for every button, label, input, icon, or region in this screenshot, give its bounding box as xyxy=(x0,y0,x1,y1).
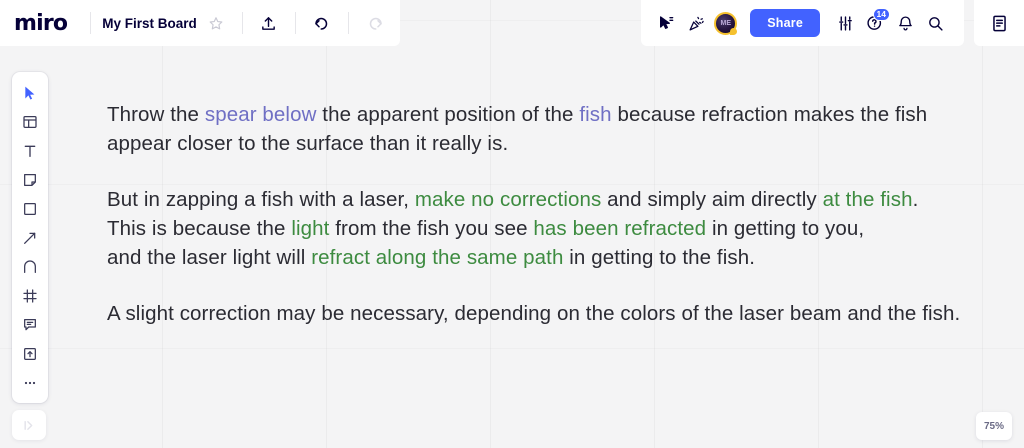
text-run: from the fish you see xyxy=(329,217,533,240)
upload-icon[interactable] xyxy=(254,8,284,38)
highlight-light: light xyxy=(291,217,329,240)
canvas-paragraph-4: and the laser light will refract along t… xyxy=(107,243,967,272)
sliders-icon[interactable] xyxy=(830,8,860,38)
help-badge: 14 xyxy=(873,8,890,21)
sticky-note-icon xyxy=(22,172,38,188)
comment-icon xyxy=(22,317,38,333)
top-bar-panel-group xyxy=(974,0,1024,46)
square-icon xyxy=(22,201,38,217)
text-run: the apparent position of the xyxy=(317,103,580,126)
select-tool[interactable] xyxy=(15,79,45,106)
divider xyxy=(242,12,243,34)
pen-icon xyxy=(22,259,38,275)
text-run: in getting to the fish. xyxy=(563,246,755,269)
text-tool[interactable] xyxy=(15,137,45,164)
collapse-panel-icon xyxy=(23,419,36,432)
divider xyxy=(348,12,349,34)
star-icon[interactable] xyxy=(201,8,231,38)
pen-tool[interactable] xyxy=(15,253,45,280)
highlight-fish: fish xyxy=(579,103,611,126)
text-run: This is because the xyxy=(107,217,291,240)
board-title[interactable]: My First Board xyxy=(102,16,197,31)
canvas-paragraph-3: This is because the light from the fish … xyxy=(107,214,967,243)
divider xyxy=(295,12,296,34)
canvas-text-block[interactable]: Throw the spear below the apparent posit… xyxy=(107,100,967,328)
notes-panel-icon[interactable] xyxy=(984,8,1014,38)
canvas-paragraph-2: But in zapping a fish with a laser, make… xyxy=(107,185,967,214)
cursor-icon xyxy=(22,85,38,101)
sticky-tool[interactable] xyxy=(15,166,45,193)
tool-rail xyxy=(12,72,48,403)
search-icon[interactable] xyxy=(920,8,950,38)
frame-icon xyxy=(22,288,38,304)
arrow-icon xyxy=(22,230,38,246)
frame-tool[interactable] xyxy=(15,282,45,309)
highlight-spear-below: spear below xyxy=(205,103,317,126)
cursor-share-icon[interactable] xyxy=(651,8,681,38)
ellipsis-icon xyxy=(22,375,38,391)
zoom-level-indicator[interactable]: 75% xyxy=(976,412,1012,440)
highlight-make-no-corrections: make no corrections xyxy=(415,188,601,211)
top-bar-left-group: miro My First Board xyxy=(0,0,400,46)
text-run: A slight correction may be necessary, de… xyxy=(107,302,960,325)
undo-icon[interactable] xyxy=(307,8,337,38)
text-run: in getting to you, xyxy=(706,217,864,240)
miro-logo[interactable]: miro xyxy=(14,11,67,36)
highlight-at-the-fish: at the fish xyxy=(823,188,913,211)
text-run: Throw the xyxy=(107,103,205,126)
celebrate-icon[interactable] xyxy=(681,8,711,38)
divider xyxy=(90,12,91,34)
canvas-paragraph-5: A slight correction may be necessary, de… xyxy=(107,299,967,328)
text-icon xyxy=(22,143,38,159)
comment-tool[interactable] xyxy=(15,311,45,338)
text-run: But in zapping a fish with a laser, xyxy=(107,188,415,211)
upload-tool[interactable] xyxy=(15,340,45,367)
avatar[interactable]: ME xyxy=(714,12,737,35)
shapes-tool[interactable] xyxy=(15,195,45,222)
board-canvas[interactable]: Throw the spear below the apparent posit… xyxy=(0,0,1024,448)
help-circle-icon[interactable]: 14 xyxy=(860,8,890,38)
upload-box-icon xyxy=(22,346,38,362)
collapse-panel-button[interactable] xyxy=(12,410,46,440)
share-button[interactable]: Share xyxy=(750,9,820,37)
text-run: and simply aim directly xyxy=(601,188,822,211)
highlight-refract-along-same-path: refract along the same path xyxy=(311,246,563,269)
text-run: and the laser light will xyxy=(107,246,311,269)
redo-icon[interactable] xyxy=(360,8,390,38)
paragraph-spacer xyxy=(107,272,967,299)
templates-tool[interactable] xyxy=(15,108,45,135)
text-run: . xyxy=(913,188,919,211)
connector-tool[interactable] xyxy=(15,224,45,251)
bell-icon[interactable] xyxy=(890,8,920,38)
template-icon xyxy=(22,114,38,130)
highlight-has-been-refracted: has been refracted xyxy=(533,217,706,240)
canvas-paragraph-1: Throw the spear below the apparent posit… xyxy=(107,100,967,158)
paragraph-spacer xyxy=(107,158,967,185)
miro-board-app: Throw the spear below the apparent posit… xyxy=(0,0,1024,448)
top-bar-right-group: ME Share 14 xyxy=(641,0,964,46)
more-tools[interactable] xyxy=(15,369,45,396)
